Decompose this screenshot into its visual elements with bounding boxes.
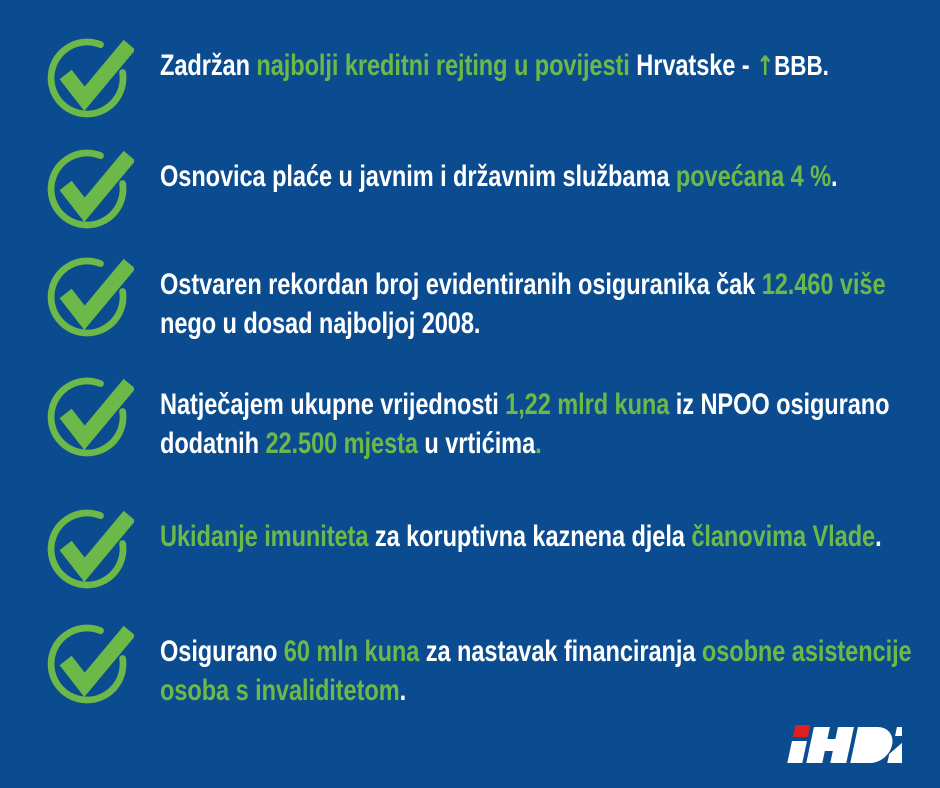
item-immunity-abolished-text: Ukidanje imuniteta za koruptivna kaznena… bbox=[160, 517, 928, 556]
text-segment: za koruptivna kaznena djela bbox=[368, 520, 691, 553]
check-circle-icon bbox=[44, 620, 134, 710]
text-segment: Osnovica plaće u javnim i državnim služb… bbox=[160, 160, 676, 193]
check-circle-icon-glyph bbox=[44, 34, 134, 124]
check-circle-icon-glyph bbox=[44, 253, 134, 343]
check-circle-icon bbox=[44, 505, 134, 595]
text-segment: Hrvatske - bbox=[630, 49, 756, 82]
check-circle-icon-glyph bbox=[44, 373, 134, 463]
text-segment: za nastavak financiranja bbox=[419, 635, 702, 668]
text-segment: BBB. bbox=[774, 50, 829, 81]
text-segment: Natječajem ukupne vrijednosti bbox=[160, 388, 505, 421]
hdz-logo bbox=[784, 724, 902, 764]
text-segment: 60 mln kuna bbox=[284, 635, 420, 668]
text-segment: . bbox=[535, 427, 541, 460]
item-credit-rating-text: Zadržan najbolji kreditni rejting u povi… bbox=[160, 46, 928, 86]
red-square-icon bbox=[793, 725, 811, 737]
text-segment: 1,22 mlrd kuna bbox=[505, 388, 669, 421]
text-segment: . bbox=[875, 520, 881, 553]
check-circle-icon-glyph bbox=[44, 505, 134, 595]
check-circle-icon-glyph bbox=[44, 145, 134, 235]
text-segment: Osigurano bbox=[160, 635, 284, 668]
text-segment: ↑ bbox=[756, 51, 774, 82]
text-segment: 12.460 više bbox=[762, 268, 886, 301]
poster-canvas: Zadržan najbolji kreditni rejting u povi… bbox=[0, 0, 940, 788]
text-segment: u vrtićima bbox=[418, 427, 535, 460]
check-circle-icon bbox=[44, 253, 134, 343]
text-segment: članovima Vlade bbox=[691, 520, 875, 553]
check-circle-icon bbox=[44, 34, 134, 124]
item-kindergarten-places-text: Natječajem ukupne vrijednosti 1,22 mlrd … bbox=[160, 385, 928, 463]
check-circle-icon-glyph bbox=[44, 620, 134, 710]
item-insured-record-text: Ostvaren rekordan broj evidentiranih osi… bbox=[160, 265, 928, 343]
text-segment: 22.500 mjesta bbox=[265, 427, 417, 460]
text-segment: Ukidanje imuniteta bbox=[160, 520, 368, 553]
text-segment: povećana 4 % bbox=[676, 160, 831, 193]
check-circle-icon bbox=[44, 373, 134, 463]
item-personal-assistance-text: Osigurano 60 mln kuna za nastavak financ… bbox=[160, 632, 928, 710]
text-segment: Ostvaren rekordan broj evidentiranih osi… bbox=[160, 268, 762, 301]
text-segment: . bbox=[831, 160, 837, 193]
text-segment: Zadržan bbox=[160, 49, 256, 82]
hdz-logo-mark bbox=[784, 722, 902, 764]
item-public-sector-base-text: Osnovica plaće u javnim i državnim služb… bbox=[160, 157, 928, 196]
text-segment: nego u dosad najboljoj 2008. bbox=[160, 307, 480, 340]
check-circle-icon bbox=[44, 145, 134, 235]
text-segment: najbolji kreditni rejting u povijesti bbox=[256, 49, 629, 82]
text-segment: . bbox=[400, 674, 406, 707]
